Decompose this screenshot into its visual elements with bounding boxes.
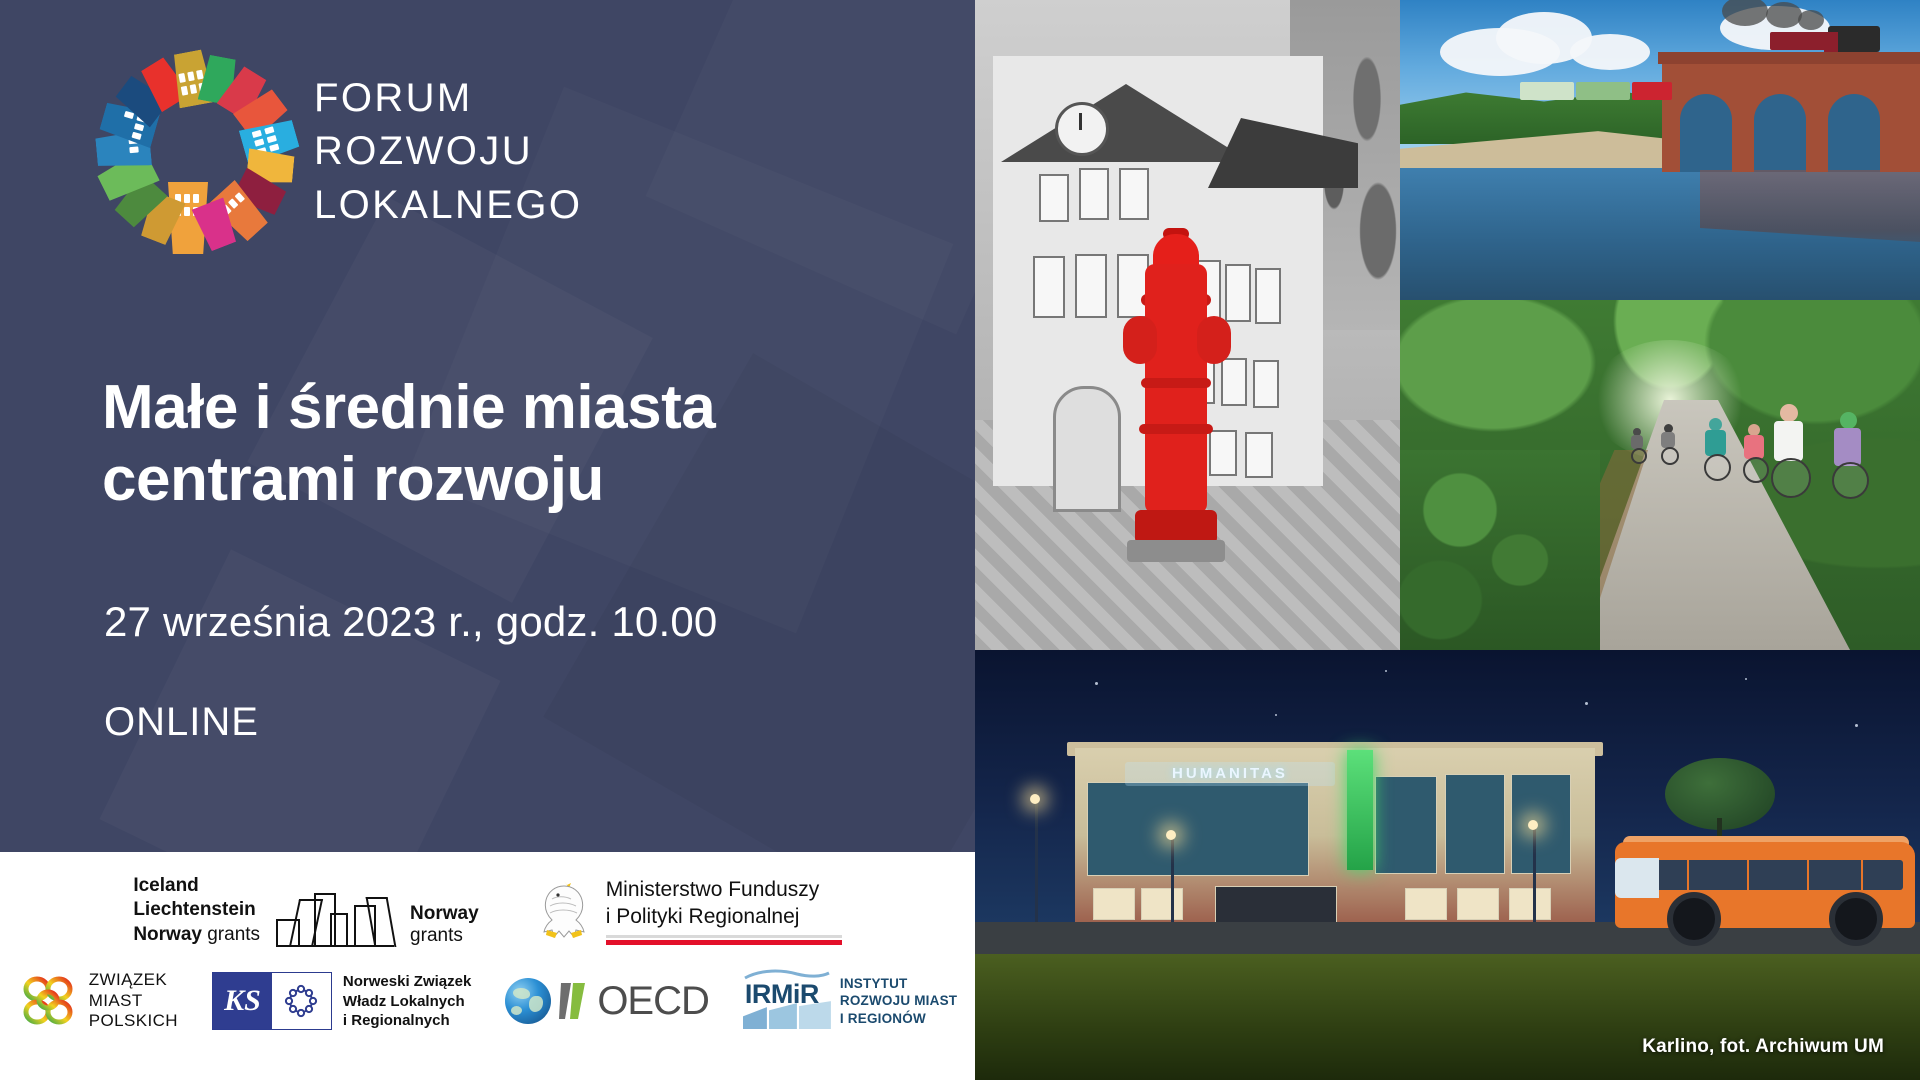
hydrant-base xyxy=(1135,510,1217,544)
zmp-flower-icon xyxy=(18,973,78,1029)
foreground-grass xyxy=(975,954,1920,1080)
logo-building-window xyxy=(190,84,198,94)
irmir-tile-3 xyxy=(799,1001,831,1029)
oecd-logo: OECD xyxy=(505,978,709,1024)
globe-icon xyxy=(505,978,551,1024)
norway-grants-suffix: grants xyxy=(410,925,463,947)
facade-glass xyxy=(1087,782,1309,876)
cyclist xyxy=(1766,404,1810,500)
logo-building-window xyxy=(252,130,262,138)
bw-window xyxy=(1245,432,1273,478)
poster-root: FORUM ROZWOJU LOKALNEGO Małe i średnie m… xyxy=(0,0,1920,1080)
green-light-stripe xyxy=(1347,750,1373,870)
ks-line-1: Norweski Związek xyxy=(343,972,471,991)
street-lamp-light xyxy=(1528,820,1538,830)
facade-window xyxy=(1093,888,1135,920)
bus-window-divider xyxy=(1747,860,1749,890)
brand-line-3: LOKALNEGO xyxy=(314,179,582,232)
irmir-tile-1 xyxy=(743,1007,767,1029)
zmp-line-1: ZWIĄZEK xyxy=(89,970,178,991)
brick-viaduct xyxy=(1662,60,1920,172)
hydrant-ring xyxy=(1141,378,1211,388)
photo-town-hall-bw-with-red-hydrant xyxy=(975,0,1400,650)
bw-clock-face xyxy=(1055,102,1109,156)
forum-rozwoju-lokalnego-logo xyxy=(88,52,288,252)
footer-row-primary: Iceland Liechtenstein Norway grants Norw… xyxy=(0,874,975,947)
zmp-line-3: POLSKICH xyxy=(89,1011,178,1032)
cloud xyxy=(1570,34,1650,70)
bus-wheel xyxy=(1667,892,1721,946)
cyclist xyxy=(1628,428,1646,462)
ks-monogram: KS xyxy=(213,973,272,1029)
street-lamp-light xyxy=(1030,794,1040,804)
cyclist xyxy=(1740,424,1768,480)
logo-building-window xyxy=(129,146,139,153)
lamp-post xyxy=(1171,836,1174,928)
train-consist xyxy=(1520,82,1700,102)
facade-window xyxy=(1457,888,1499,920)
star xyxy=(1385,670,1387,672)
ministry-rule-white xyxy=(606,935,842,938)
bicycle-wheel xyxy=(1661,447,1679,465)
ks-norweski-zwiazek-logo: KS xyxy=(212,972,471,1030)
locomotive-body xyxy=(1828,26,1880,52)
irmir-line-2: ROZWOJU MIAST xyxy=(840,992,957,1010)
ks-text-block: Norweski Związek Władz Lokalnych i Regio… xyxy=(343,972,471,1030)
ks-line-2: Władz Lokalnych xyxy=(343,992,471,1011)
logo-building-window xyxy=(131,132,141,140)
logo-building-window xyxy=(228,198,238,209)
street-lamp-light xyxy=(1166,830,1176,840)
irmir-tiles-icon xyxy=(743,1001,831,1029)
building-neon-sign: HUMANITAS xyxy=(1125,762,1335,786)
bw-window xyxy=(1255,268,1281,324)
train-carriage xyxy=(1770,32,1828,50)
cyclist xyxy=(1700,418,1730,478)
ministerstwo-funduszy-logo: Ministerstwo Funduszy i Polityki Regiona… xyxy=(535,875,842,945)
event-date: 27 września 2023 r., godz. 10.00 xyxy=(104,598,717,646)
hydrant-outlet-right xyxy=(1197,316,1231,364)
roadside-bushes xyxy=(1400,450,1600,650)
bus-windscreen xyxy=(1615,858,1659,898)
ministry-line-1: Ministerstwo Funduszy xyxy=(606,876,842,903)
ks-ring-icon xyxy=(272,973,331,1029)
left-info-panel: FORUM ROZWOJU LOKALNEGO Małe i średnie m… xyxy=(0,0,975,852)
viaduct-arch xyxy=(1828,94,1880,172)
smoke-plume xyxy=(1766,2,1802,28)
partner-logos-footer: Iceland Liechtenstein Norway grants Norw… xyxy=(0,852,975,1080)
bus-window-divider xyxy=(1687,860,1689,890)
eea-skyline-icon xyxy=(276,895,394,947)
brand-line-2: ROZWOJU xyxy=(314,125,582,178)
globe-landmass-3 xyxy=(511,1006,522,1015)
steam-locomotive xyxy=(1770,24,1880,54)
bw-window xyxy=(1119,168,1149,220)
star xyxy=(1095,682,1098,685)
logo-building-window xyxy=(193,194,199,203)
viaduct-arch xyxy=(1754,94,1806,172)
photo-caption: Karlino, fot. Archiwum UM xyxy=(1642,1036,1884,1058)
irmir-mark: IRMiR xyxy=(743,973,831,1029)
irmir-logo: IRMiR INSTYTUT ROZWOJU MIAST I REGIONÓW xyxy=(743,973,957,1029)
photo-cyclists-forest-path xyxy=(1400,300,1920,650)
globe-landmass-2 xyxy=(529,996,543,1012)
footer-row-secondary: ZWIĄZEK MIAST POLSKICH KS xyxy=(0,970,975,1032)
facade-glass xyxy=(1511,774,1571,874)
facade-window xyxy=(1509,888,1551,920)
cyclist-torso xyxy=(1661,432,1675,448)
photo-steam-train-viaduct xyxy=(1400,0,1920,300)
ministry-flag-rule xyxy=(606,935,842,945)
bicycle-wheel xyxy=(1832,462,1869,499)
facade-window xyxy=(1405,888,1447,920)
star xyxy=(1855,724,1858,727)
logo-building-window xyxy=(184,207,190,216)
hydrant-ring xyxy=(1139,424,1213,434)
oecd-chevron-icon xyxy=(559,981,589,1021)
zmp-text-block: ZWIĄZEK MIAST POLSKICH xyxy=(89,970,178,1032)
globe-landmass-1 xyxy=(513,988,530,999)
photo-collage: HUMANITAS xyxy=(975,0,1920,1080)
page-title: Małe i średnie miasta centrami rozwoju xyxy=(102,372,922,516)
eea-line-3: Norway grants xyxy=(133,923,260,947)
norway-grants-text: Norway grants xyxy=(410,903,479,947)
facade-glass xyxy=(1375,776,1437,874)
facade-glass xyxy=(1445,774,1505,874)
logo-building-window xyxy=(267,135,277,143)
train-car xyxy=(1632,82,1672,100)
cyclist-head xyxy=(1780,404,1798,422)
ministry-line-2: i Polityki Regionalnej xyxy=(606,903,842,930)
brand-line-1: FORUM xyxy=(314,72,582,125)
logo-building-window xyxy=(181,86,189,96)
viaduct-arch xyxy=(1680,94,1732,172)
irmir-tile-2 xyxy=(769,1003,797,1029)
logo-building-window xyxy=(254,138,264,146)
logo-building-window xyxy=(187,71,195,81)
eea-grants-suffix: grants xyxy=(207,924,260,945)
eea-line-1: Iceland xyxy=(133,874,260,898)
cyclist-head xyxy=(1840,412,1857,429)
neon-sign-text: HUMANITAS xyxy=(1125,762,1335,786)
bus-window-divider xyxy=(1861,860,1863,890)
hydrant-body xyxy=(1145,264,1207,514)
logo-building-window xyxy=(264,126,274,134)
irmir-line-1: INSTYTUT xyxy=(840,975,957,993)
cyclist xyxy=(1828,412,1868,500)
cyclist-torso xyxy=(1705,430,1726,456)
bw-window xyxy=(1253,360,1279,408)
brand-lockup: FORUM ROZWOJU LOKALNEGO xyxy=(88,52,582,252)
train-car xyxy=(1520,82,1574,100)
photo-night-building-orange-bus: HUMANITAS xyxy=(975,650,1920,1080)
eea-norway-grants-logo: Iceland Liechtenstein Norway grants Norw… xyxy=(133,874,478,947)
logo-building-window xyxy=(178,73,186,83)
lamp-post xyxy=(1533,826,1536,928)
cyclist-torso xyxy=(1744,435,1764,459)
cyclist-torso xyxy=(1631,435,1643,449)
bw-window xyxy=(1033,256,1065,318)
bicycle-wheel xyxy=(1631,448,1647,464)
irmir-text-block: INSTYTUT ROZWOJU MIAST I REGIONÓW xyxy=(840,975,957,1028)
eea-skyline-bar-4 xyxy=(330,913,348,947)
bicycle-wheel xyxy=(1771,458,1811,498)
bus-window-divider xyxy=(1807,860,1809,890)
star xyxy=(1275,714,1277,716)
red-fire-hydrant xyxy=(1123,228,1231,558)
ministry-rule-red xyxy=(606,940,842,945)
eea-grants-text: Iceland Liechtenstein Norway grants xyxy=(133,874,260,947)
norway-grants-title: Norway xyxy=(410,903,479,925)
hydrant-plinth xyxy=(1127,540,1225,562)
bus-wheel xyxy=(1829,892,1883,946)
cyclist-torso xyxy=(1774,421,1803,461)
cyclist-torso xyxy=(1834,428,1861,466)
oecd-wordmark: OECD xyxy=(597,979,709,1024)
bw-window xyxy=(1079,168,1109,220)
polish-eagle-icon xyxy=(535,875,593,945)
eea-line-2: Liechtenstein xyxy=(133,898,260,922)
lamp-post xyxy=(1035,800,1038,928)
bw-entrance-arch xyxy=(1053,386,1121,512)
ministry-text-block: Ministerstwo Funduszy i Polityki Regiona… xyxy=(606,876,842,946)
cyclist xyxy=(1658,424,1678,462)
bicycle-wheel xyxy=(1704,454,1731,481)
orange-bus xyxy=(1615,832,1915,952)
train-car xyxy=(1576,82,1630,100)
logo-building-window xyxy=(134,123,144,131)
brand-wordmark: FORUM ROZWOJU LOKALNEGO xyxy=(314,72,582,232)
hydrant-outlet-left xyxy=(1123,316,1157,364)
bw-window xyxy=(1075,254,1107,318)
logo-building-window xyxy=(235,192,245,203)
star xyxy=(1585,702,1588,705)
event-mode: ONLINE xyxy=(104,700,259,745)
zmp-line-2: MIAST xyxy=(89,991,178,1012)
star xyxy=(1745,678,1747,680)
bw-window xyxy=(1039,174,1069,222)
zwiazek-miast-polskich-logo: ZWIĄZEK MIAST POLSKICH xyxy=(18,970,178,1032)
ks-mark: KS xyxy=(212,972,332,1030)
ks-line-3: i Regionalnych xyxy=(343,1011,471,1030)
irmir-line-3: I REGIONÓW xyxy=(840,1010,957,1028)
facade-window xyxy=(1141,888,1183,920)
bw-gable-roof xyxy=(1001,84,1251,162)
